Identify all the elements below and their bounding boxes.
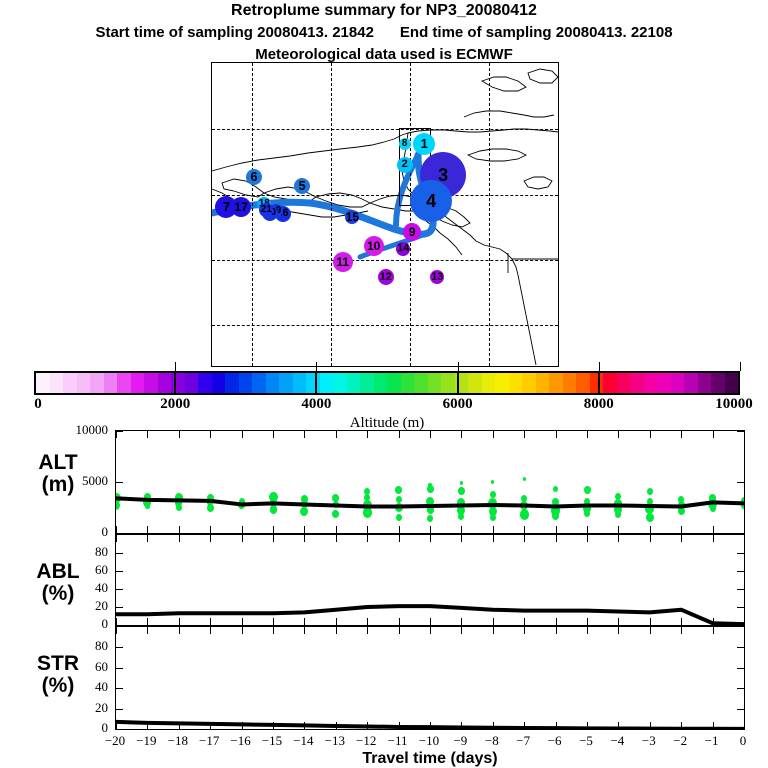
- meteorology-label: Meteorological data used is ECMWF: [0, 46, 768, 63]
- colorbar-cell-25: [374, 373, 388, 393]
- colorbar-cell-2: [63, 373, 77, 393]
- colorbar-cell-43: [617, 373, 631, 393]
- retroplume-map[interactable]: 123456789101112131415161718192021: [211, 62, 559, 367]
- colorbar-cell-6: [117, 373, 131, 393]
- x-tick-label-17: −3: [642, 733, 656, 749]
- x-tick-top-20: [744, 431, 745, 438]
- colorbar-tick-label-3: 6000: [443, 396, 473, 413]
- colorbar-cell-20: [306, 373, 320, 393]
- map-gridline-v-1: [331, 63, 332, 366]
- y-tick-label-panel-str-0: 0: [48, 720, 108, 736]
- map-marker-day-12[interactable]: 12: [378, 269, 394, 285]
- map-marker-day-11[interactable]: 11: [333, 252, 353, 272]
- x-tick-label-9: −11: [388, 733, 408, 749]
- panel-alt-series-line: [116, 431, 744, 533]
- colorbar-cell-47: [671, 373, 685, 393]
- colorbar-divider-2: [457, 371, 459, 395]
- colorbar-cell-12: [198, 373, 212, 393]
- colorbar-cell-38: [549, 373, 563, 393]
- map-marker-day-9[interactable]: 9: [403, 223, 421, 241]
- colorbar-cell-15: [239, 373, 253, 393]
- colorbar-cell-45: [644, 373, 658, 393]
- colorbar-gradient: [34, 371, 740, 395]
- colorbar-cell-18: [279, 373, 293, 393]
- map-marker-day-14[interactable]: 14: [396, 242, 410, 256]
- x-tick-label-1: −19: [136, 733, 156, 749]
- colorbar-divider-1: [315, 371, 317, 395]
- colorbar-cell-22: [333, 373, 347, 393]
- colorbar-cell-19: [293, 373, 307, 393]
- altitude-colorbar[interactable]: Altitude (m) 0200040006000800010000: [34, 371, 740, 395]
- x-tick-label-18: −2: [673, 733, 687, 749]
- colorbar-cell-16: [252, 373, 266, 393]
- colorbar-tick-label-4: 8000: [584, 396, 614, 413]
- colorbar-tick-1: [175, 362, 176, 371]
- map-marker-day-10[interactable]: 10: [364, 236, 384, 256]
- map-gridline-v-0: [252, 63, 253, 366]
- colorbar-cell-0: [36, 373, 50, 393]
- x-axis-tick-labels: −20−19−18−17−16−15−14−13−12−11−10−9−8−7−…: [115, 733, 745, 751]
- x-tick-label-6: −14: [293, 733, 313, 749]
- y-tick-label-panel-str-1: 20: [48, 700, 108, 716]
- x-tick-label-8: −12: [356, 733, 376, 749]
- map-gridline-h-1: [212, 195, 558, 196]
- colorbar-cell-36: [522, 373, 536, 393]
- x-tick-label-5: −15: [262, 733, 282, 749]
- colorbar-cell-37: [536, 373, 550, 393]
- page-title: Retroplume summary for NP3_20080412: [0, 2, 768, 20]
- colorbar-cell-4: [90, 373, 104, 393]
- colorbar-cell-33: [482, 373, 496, 393]
- colorbar-cell-27: [401, 373, 415, 393]
- colorbar-tick-2: [316, 362, 317, 371]
- colorbar-cell-24: [360, 373, 374, 393]
- y-tick-label-panel-alt-2: 10000: [48, 422, 108, 438]
- y-tick-label-panel-str-3: 60: [48, 659, 108, 675]
- colorbar-cell-32: [468, 373, 482, 393]
- y-tick-label-panel-abl-4: 80: [48, 544, 108, 560]
- colorbar-tick-label-1: 2000: [160, 396, 190, 413]
- x-tick-label-10: −10: [419, 733, 439, 749]
- colorbar-cell-10: [171, 373, 185, 393]
- map-marker-day-4[interactable]: 4: [410, 180, 452, 222]
- colorbar-cell-14: [225, 373, 239, 393]
- y-tick-label-panel-abl-3: 60: [48, 562, 108, 578]
- map-marker-day-15[interactable]: 15: [345, 210, 359, 224]
- colorbar-cell-40: [576, 373, 590, 393]
- map-marker-day-13[interactable]: 13: [430, 270, 444, 284]
- colorbar-cell-3: [77, 373, 91, 393]
- x-tick-top-20: [744, 627, 745, 634]
- y-tick-label-panel-abl-0: 0: [48, 616, 108, 632]
- x-tick-label-4: −16: [230, 733, 250, 749]
- end-time-label: End time of sampling 20080413. 22108: [400, 24, 673, 41]
- x-tick-label-11: −9: [453, 733, 467, 749]
- map-gridline-v-3: [489, 63, 490, 366]
- colorbar-cell-34: [495, 373, 509, 393]
- colorbar-cell-5: [104, 373, 118, 393]
- y-tick-label-panel-abl-1: 20: [48, 598, 108, 614]
- sampling-time-header: Start time of sampling 20080413. 21842En…: [0, 24, 768, 41]
- x-tick-label-7: −13: [325, 733, 345, 749]
- map-marker-day-8[interactable]: 8: [399, 138, 411, 150]
- x-tick-label-15: −5: [579, 733, 593, 749]
- colorbar-cell-46: [657, 373, 671, 393]
- colorbar-cell-21: [320, 373, 334, 393]
- map-marker-day-21[interactable]: 21: [259, 203, 273, 217]
- x-tick-bot-20: [744, 722, 745, 729]
- colorbar-cell-7: [131, 373, 145, 393]
- y-tick-label-panel-str-2: 40: [48, 679, 108, 695]
- y-tick-label-panel-abl-2: 40: [48, 580, 108, 596]
- colorbar-cell-13: [212, 373, 226, 393]
- x-tick-label-13: −7: [516, 733, 530, 749]
- colorbar-cell-9: [158, 373, 172, 393]
- colorbar-cell-50: [711, 373, 725, 393]
- x-tick-top-20: [744, 535, 745, 542]
- x-tick-bot-20: [744, 526, 745, 533]
- colorbar-cell-8: [144, 373, 158, 393]
- colorbar-tick-5: [740, 362, 741, 371]
- colorbar-cell-23: [347, 373, 361, 393]
- colorbar-cell-49: [698, 373, 712, 393]
- colorbar-cell-26: [387, 373, 401, 393]
- colorbar-cell-41: [590, 373, 604, 393]
- map-gridline-h-3: [212, 325, 558, 326]
- x-tick-bot-20: [744, 618, 745, 625]
- colorbar-cell-48: [684, 373, 698, 393]
- map-marker-day-2[interactable]: 2: [397, 157, 413, 173]
- colorbar-cell-39: [563, 373, 577, 393]
- colorbar-cell-11: [185, 373, 199, 393]
- x-tick-label-20: 0: [740, 733, 747, 749]
- colorbar-divider-3: [598, 371, 600, 395]
- x-tick-label-2: −18: [168, 733, 188, 749]
- colorbar-cell-28: [414, 373, 428, 393]
- x-tick-label-3: −17: [199, 733, 219, 749]
- colorbar-divider-0: [174, 371, 176, 395]
- colorbar-cell-29: [428, 373, 442, 393]
- alt-panel[interactable]: [115, 430, 745, 534]
- str-panel[interactable]: [115, 626, 745, 730]
- colorbar-tick-label-0: 0: [34, 396, 42, 413]
- colorbar-cell-30: [441, 373, 455, 393]
- map-marker-day-1[interactable]: 1: [413, 133, 435, 155]
- map-marker-day-5[interactable]: 5: [294, 178, 310, 194]
- map-inner: 123456789101112131415161718192021: [212, 63, 558, 366]
- panel-abl-series-line: [116, 535, 744, 625]
- colorbar-cell-44: [630, 373, 644, 393]
- map-gridline-h-0: [212, 129, 558, 130]
- colorbar-tick-label-5: 10000: [715, 396, 753, 413]
- y-tick-label-panel-alt-0: 0: [48, 524, 108, 540]
- x-axis-title: Travel time (days): [362, 750, 497, 768]
- x-tick-label-19: −1: [705, 733, 719, 749]
- x-tick-label-16: −4: [610, 733, 624, 749]
- y-tick-label-panel-alt-1: 5000: [48, 473, 108, 489]
- abl-panel[interactable]: [115, 534, 745, 626]
- map-gridline-v-2: [410, 63, 411, 366]
- colorbar-cell-1: [50, 373, 64, 393]
- y-tick-panel-str-0: [737, 729, 744, 730]
- x-tick-label-14: −6: [548, 733, 562, 749]
- map-marker-day-6[interactable]: 6: [246, 169, 262, 185]
- map-gridline-h-2: [212, 260, 558, 261]
- colorbar-tick-label-2: 4000: [301, 396, 331, 413]
- colorbar-cell-17: [266, 373, 280, 393]
- colorbar-tick-3: [458, 362, 459, 371]
- panel-str-series-line: [116, 627, 744, 729]
- y-tick-label-panel-str-4: 80: [48, 638, 108, 654]
- colorbar-cell-42: [603, 373, 617, 393]
- colorbar-cell-51: [725, 373, 739, 393]
- colorbar-cell-35: [509, 373, 523, 393]
- y-tick-panel-str-0: [116, 729, 123, 730]
- x-tick-label-12: −8: [485, 733, 499, 749]
- colorbar-tick-4: [599, 362, 600, 371]
- start-time-label: Start time of sampling 20080413. 21842: [95, 24, 373, 41]
